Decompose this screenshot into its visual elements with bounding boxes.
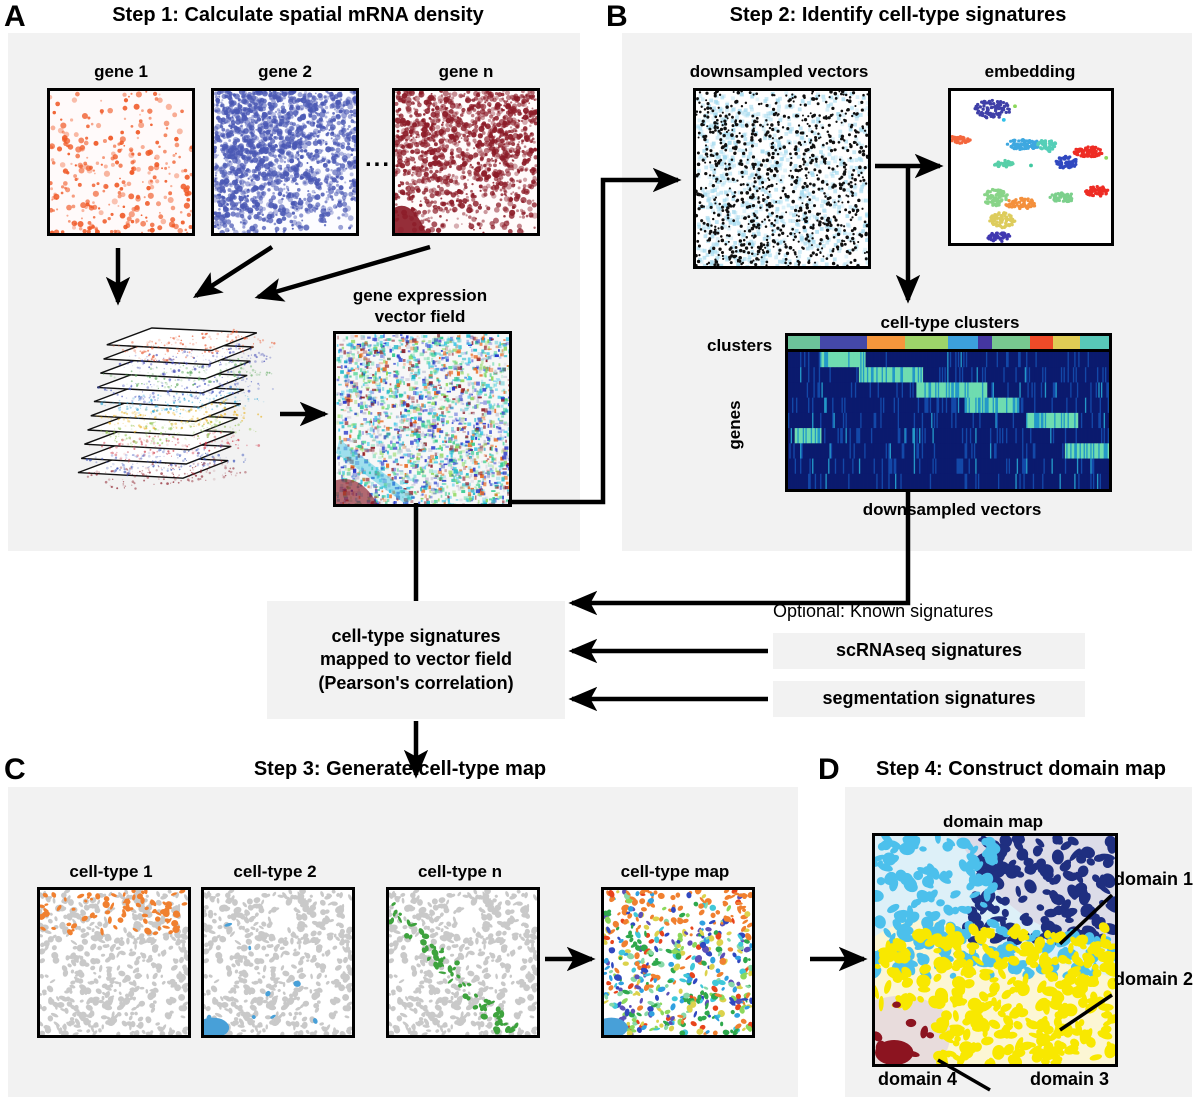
cell-type-1-image <box>37 887 191 1038</box>
heatmap-clusters-label: clusters <box>707 336 772 356</box>
center-box-line-2: mapped to vector field <box>318 648 513 671</box>
panel-c-title: Step 3: Generate cell-type map <box>130 758 670 780</box>
panel-letter-d: D <box>818 755 840 785</box>
cell-type-2-image <box>201 887 355 1038</box>
cell-type-map-image <box>601 887 755 1038</box>
cluster-segment <box>1080 336 1109 349</box>
center-box-line-3: (Pearson's correlation) <box>318 672 513 695</box>
cell-type-2-label: cell-type 2 <box>201 862 349 882</box>
cell-type-n-image <box>386 887 540 1038</box>
panel-b-title: Step 2: Identify cell-type signatures <box>648 4 1148 26</box>
heatmap-matrix <box>785 352 1112 492</box>
panel-d-title: Step 4: Construct domain map <box>856 758 1186 780</box>
cluster-segment <box>820 336 867 349</box>
segmentation-signatures-box: segmentation signatures <box>773 681 1085 717</box>
optional-known-signatures-heading: Optional: Known signatures <box>773 601 993 622</box>
embedding-label: embedding <box>950 62 1110 82</box>
gene-expression-vector-field-image <box>333 331 512 507</box>
embedding-scatter-plot <box>948 88 1114 246</box>
vector-field-label-line2: vector field <box>325 307 515 327</box>
domain-3-label: domain 3 <box>1030 1069 1109 1090</box>
downsampled-vectors-image <box>693 88 871 269</box>
heatmap-genes-label: genes <box>725 395 745 455</box>
cluster-segment <box>867 336 905 349</box>
panel-letter-a: A <box>4 2 26 32</box>
domain-1-label: domain 1 <box>1114 869 1193 890</box>
heatmap-top-label: cell-type clusters <box>840 313 1060 333</box>
domain-4-label: domain 4 <box>878 1069 957 1090</box>
heatmap-bottom-label: downsampled vectors <box>838 500 1066 520</box>
cluster-segment <box>948 336 977 349</box>
gene-n-image <box>392 88 540 236</box>
gene-ellipsis: ... <box>365 145 391 173</box>
domain-map-label: domain map <box>898 812 1088 832</box>
heatmap-cluster-track <box>785 333 1112 352</box>
cluster-segment <box>1053 336 1079 349</box>
cluster-segment <box>905 336 949 349</box>
center-box-line-1: cell-type signatures <box>318 625 513 648</box>
cluster-segment <box>992 336 1030 349</box>
cluster-segment <box>788 336 820 349</box>
cell-type-1-label: cell-type 1 <box>37 862 185 882</box>
cluster-segment <box>1030 336 1053 349</box>
domain-map-image <box>872 833 1118 1067</box>
center-flow-box: cell-type signatures mapped to vector fi… <box>267 601 565 719</box>
cell-type-n-label: cell-type n <box>386 862 534 882</box>
domain-2-label: domain 2 <box>1114 969 1193 990</box>
downsampled-vectors-label: downsampled vectors <box>664 62 894 82</box>
panel-letter-b: B <box>606 2 628 32</box>
cell-type-map-label: cell-type map <box>601 862 749 882</box>
vector-field-label-line1: gene expression <box>325 286 515 306</box>
scrnaseq-signatures-box: scRNAseq signatures <box>773 633 1085 669</box>
gene-1-image <box>47 88 195 236</box>
gene-2-label: gene 2 <box>211 62 359 82</box>
cluster-segment <box>978 336 993 349</box>
gene-layer-stack <box>60 320 270 510</box>
gene-1-label: gene 1 <box>47 62 195 82</box>
gene-n-label: gene n <box>392 62 540 82</box>
panel-a-title: Step 1: Calculate spatial mRNA density <box>48 4 548 26</box>
gene-2-image <box>211 88 359 236</box>
panel-letter-c: C <box>4 755 26 785</box>
